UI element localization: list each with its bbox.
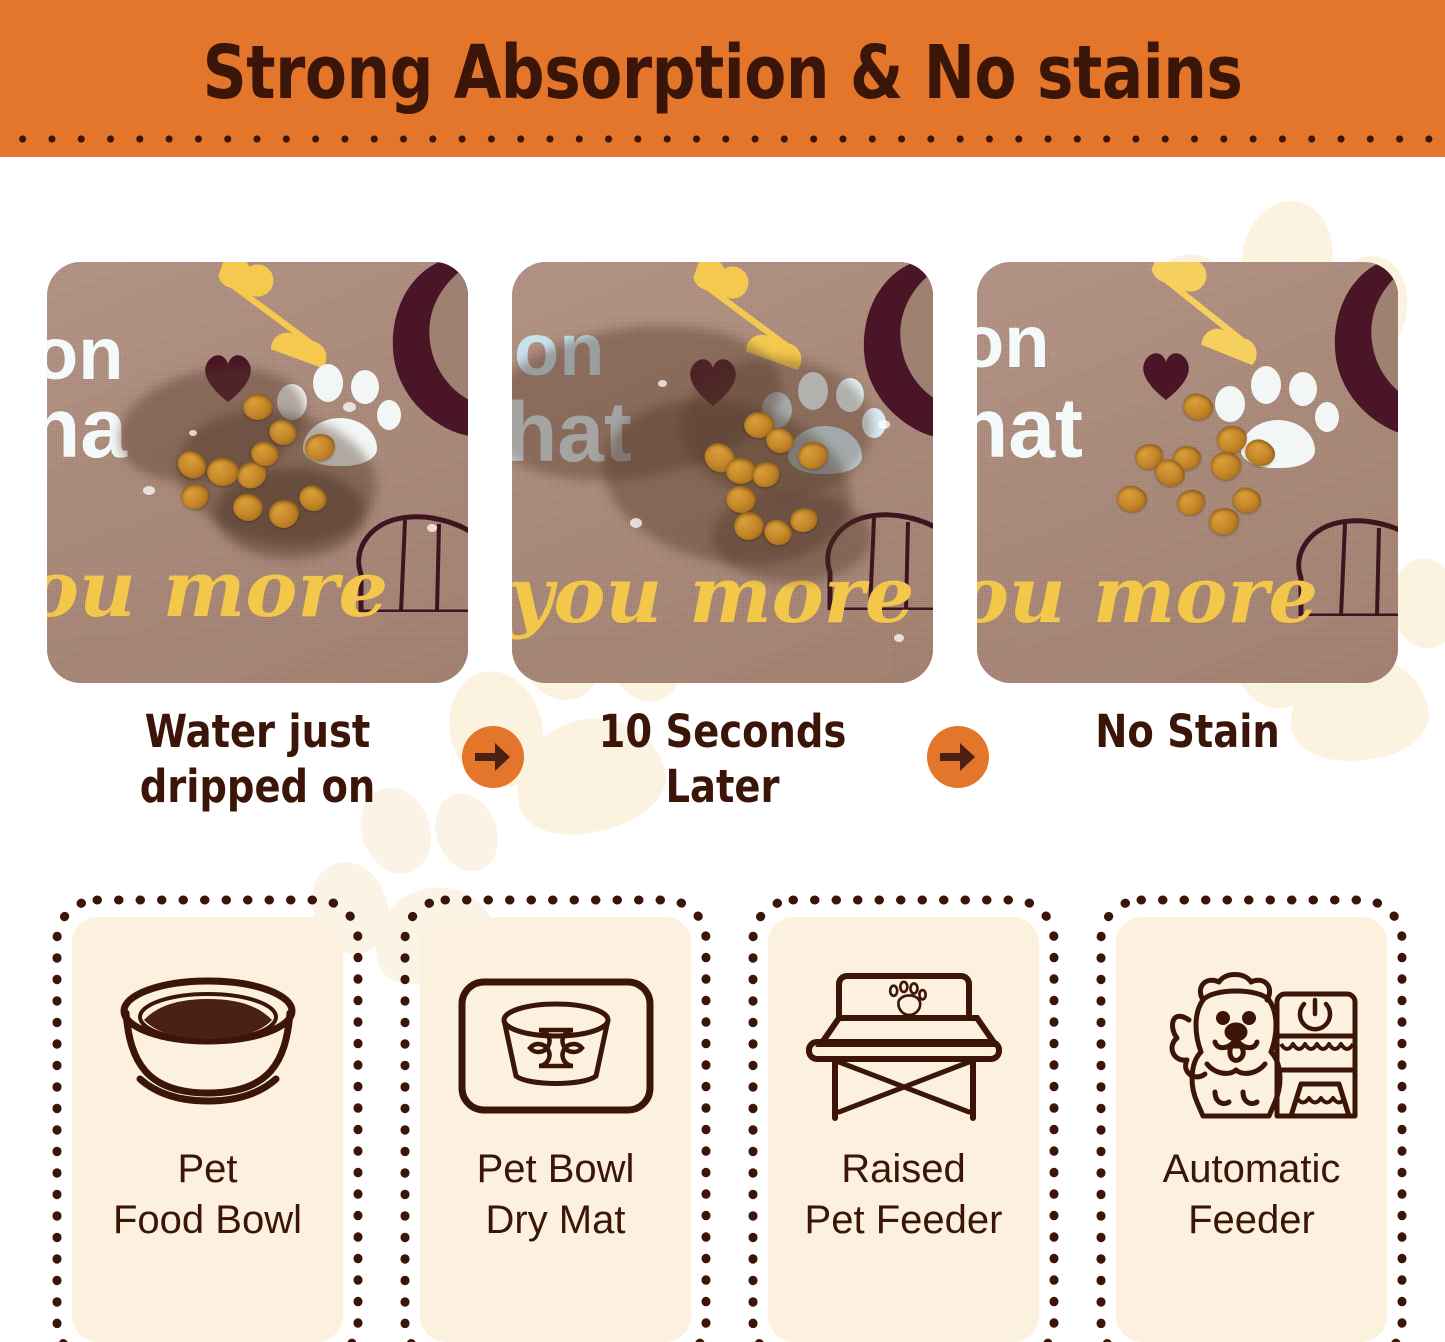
card-body: Raised Pet Feeder (768, 917, 1039, 1342)
card-label: Raised Pet Feeder (805, 1144, 1003, 1246)
infographic-page: Strong Absorption & No stains (0, 0, 1445, 1342)
raised-pet-feeder-icon (799, 953, 1009, 1138)
automatic-feeder-icon (1145, 953, 1359, 1138)
use-case-card-pet-food-bowl[interactable]: Pet Food Bowl (52, 895, 363, 1342)
dotted-divider (0, 133, 1445, 145)
demo-photo-row: on ha ou more (0, 262, 1445, 683)
demo-photo-step-2: on hat you more (512, 262, 933, 683)
page-title: Strong Absorption & No stains (58, 30, 1387, 116)
mat-text-on: on (977, 308, 1049, 376)
card-body: Automatic Feeder (1116, 917, 1387, 1342)
card-label: Automatic Feeder (1163, 1144, 1341, 1246)
pet-food-bowl-icon (110, 953, 306, 1138)
use-case-card-automatic-feeder[interactable]: Automatic Feeder (1096, 895, 1407, 1342)
card-body: Pet Food Bowl (72, 917, 343, 1342)
arrow-right-icon (462, 726, 524, 788)
card-label: Pet Bowl Dry Mat (477, 1144, 635, 1246)
caption-step-1: Water just dripped on (58, 705, 458, 815)
mat-text-that: ha (47, 390, 127, 467)
demo-photo-step-1: on ha ou more (47, 262, 468, 683)
mat-text-on: on (47, 320, 123, 388)
use-case-cards-row: Pet Food Bowl Pet Bowl Dry Mat (0, 895, 1445, 1342)
header-banner: Strong Absorption & No stains (0, 0, 1445, 157)
mat-text-you-more: ou more (47, 544, 388, 635)
pet-bowl-dry-mat-icon (456, 953, 656, 1138)
caption-step-2: 10 Seconds Later (523, 705, 923, 815)
use-case-card-pet-bowl-dry-mat[interactable]: Pet Bowl Dry Mat (400, 895, 711, 1342)
mat-text-that: hat (977, 390, 1083, 467)
arrow-right-icon (927, 726, 989, 788)
mat-text-you-more: ou more (977, 550, 1318, 641)
card-body: Pet Bowl Dry Mat (420, 917, 691, 1342)
card-label: Pet Food Bowl (113, 1144, 302, 1246)
use-case-card-raised-pet-feeder[interactable]: Raised Pet Feeder (748, 895, 1059, 1342)
demo-photo-step-3: on hat ou more (977, 262, 1398, 683)
caption-step-3: No Stain (988, 705, 1388, 760)
heart-graphic (1137, 348, 1195, 402)
